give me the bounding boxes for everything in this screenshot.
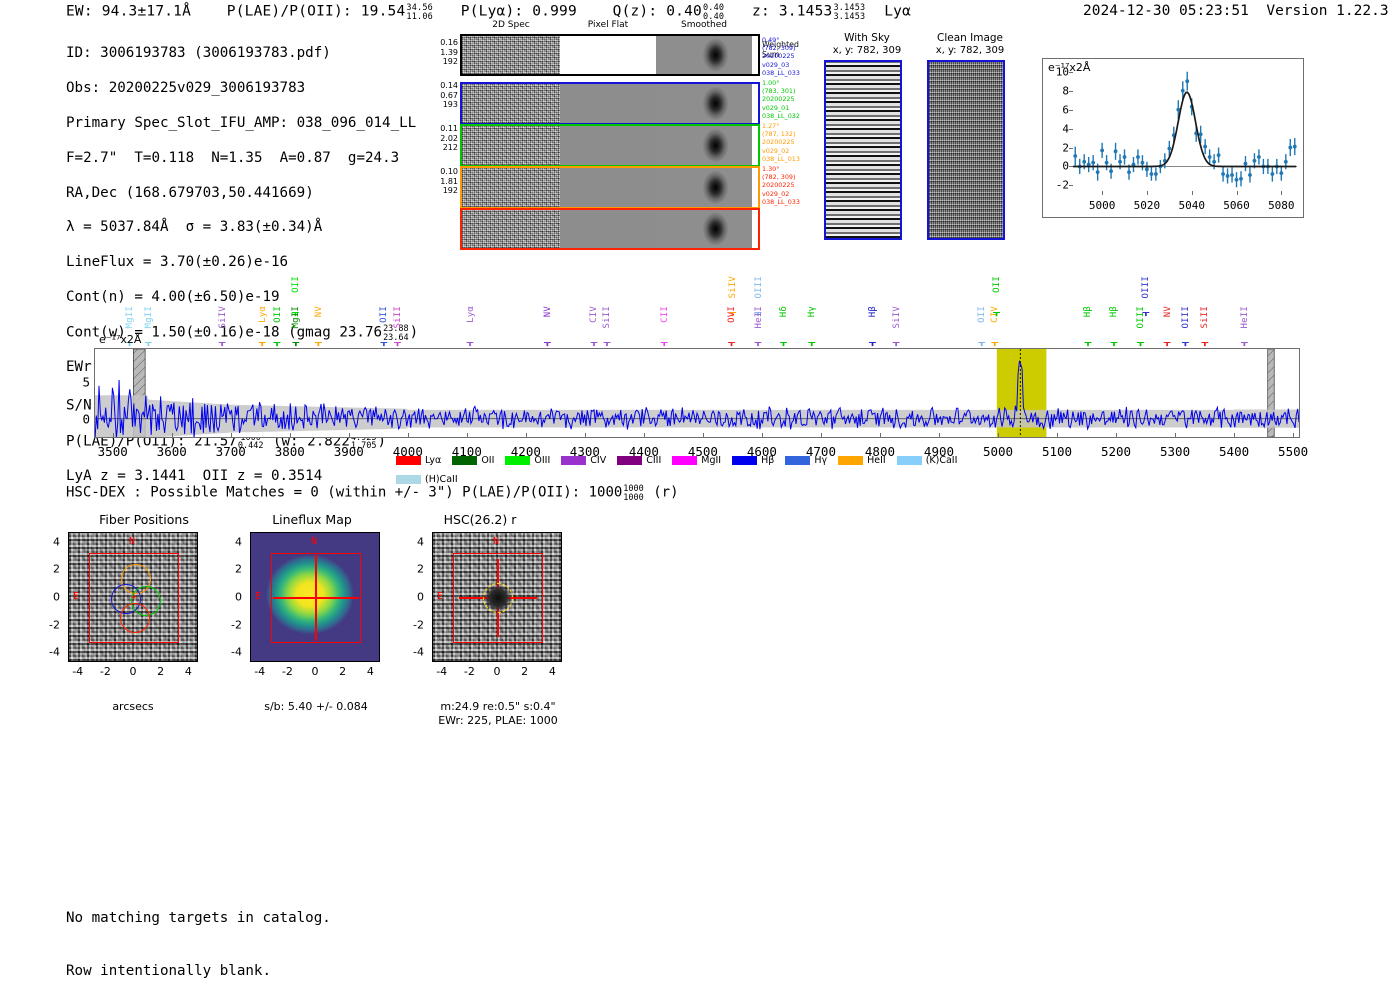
emission-line-label: Hδ [779, 306, 789, 317]
spec2d-fiber-row[interactable] [460, 124, 760, 166]
hsc-dex-header: HSC-DEX : Possible Matches = 0 (within +… [66, 484, 679, 501]
fiber-smoothed [656, 84, 752, 123]
header-plya-label: P(Lyα): [461, 4, 524, 20]
spectrum-xtick: 3900 [334, 444, 364, 459]
hsc-r-xtick: 2 [521, 665, 528, 678]
line-profile-xtick-mark [1281, 191, 1282, 195]
spectrum-xtick: 5200 [1101, 444, 1131, 459]
line-profile-ytick-mark [1069, 185, 1073, 186]
full-spectrum-plot[interactable]: e⁻¹⁷x2Å 35003600370038003900400041004200… [94, 348, 1300, 438]
spectrum-xtick-mark [1175, 433, 1176, 437]
spectrum-xtick-mark [408, 433, 409, 437]
info-line-seeing: F=2.7" T=0.118 N=1.35 A=0.87 g=24.3 [66, 150, 418, 167]
emission-line-label: OIII [754, 276, 764, 298]
emission-line-bracket: ┳ [661, 339, 668, 346]
emission-line-label: SiII [393, 306, 403, 328]
emission-line-label: NV [1163, 306, 1173, 317]
line-profile-ytick: 10 [1056, 65, 1069, 78]
spectrum-xtick: 3700 [216, 444, 246, 459]
spectrum-xtick: 3500 [98, 444, 128, 459]
spectrum-legend-item: CIII [617, 455, 661, 466]
emission-line-label: HeII [1240, 306, 1250, 328]
fiber-aperture-circle [120, 603, 150, 633]
line-profile-ytick-mark [1069, 148, 1073, 149]
fiber-row-left-stats: 0.10 1.81 192 [440, 167, 458, 196]
info-line-obs: Obs: 20200225v029_3006193783 [66, 80, 418, 97]
spec2d-montage: 2D Spec Pixel Flat Smoothed Weighted Sum… [460, 34, 760, 250]
hsc-r-caption-2: EWr: 225, PLAE: 1000 [427, 714, 569, 727]
line-profile-ytick-mark [1069, 110, 1073, 111]
fiber-row-left-stats: 0.11 2.02 212 [440, 124, 458, 153]
spectrum-legend-label: HeII [867, 455, 886, 466]
spectrum-xtick-mark [113, 433, 114, 437]
emission-line-bracket: ┳ [1241, 339, 1248, 346]
hsc-r-caption-1: m:24.9 re:0.5" s:0.4" [427, 700, 569, 713]
emission-line-label: Hγ [807, 306, 817, 317]
fiber-pixelflat [560, 84, 656, 123]
spectrum-xtick-mark [939, 433, 940, 437]
fiber-positions-ytick: 0 [53, 591, 60, 604]
emission-line-label: MgII [144, 306, 154, 328]
spectrum-xtick: 5100 [1042, 444, 1072, 459]
spectrum-legend-swatch [672, 456, 697, 465]
spec2d-fiber-row[interactable] [460, 166, 760, 208]
hsc-r-image[interactable]: N E [432, 532, 562, 662]
spectrum-xtick-mark [585, 433, 586, 437]
compass-east-hsc: E [437, 591, 443, 602]
spectrum-xtick: 5500 [1278, 444, 1308, 459]
spectrum-xtick-mark [349, 433, 350, 437]
spectrum-legend-label: OIII [534, 455, 550, 466]
emission-line-label: SiIV [218, 306, 228, 328]
spectrum-xtick-mark [1057, 433, 1058, 437]
spectrum-legend-label: OII [481, 455, 494, 466]
emission-line-label: CII [660, 306, 670, 323]
lineflux-map-caption: s/b: 5.40 +/- 0.084 [245, 700, 387, 713]
fiber-positions-ytick: 2 [53, 563, 60, 576]
spectrum-xtick: 5300 [1160, 444, 1190, 459]
fiber-row-right-meta: 1.00° (783, 301) 20200225 v029_01 038_LL… [762, 79, 800, 120]
hsc-r-xtick: 0 [494, 665, 501, 678]
line-profile-xtick: 5040 [1178, 199, 1205, 212]
spectrum-xtick-mark [290, 433, 291, 437]
emission-line-bracket: ┳ [394, 339, 401, 346]
line-profile-xtick-mark [1102, 191, 1103, 195]
hsc-r-ytick: 2 [417, 563, 424, 576]
spectrum-legend-swatch [452, 456, 477, 465]
emission-line-label: MgII [125, 306, 135, 328]
spectrum-xtick-mark [880, 433, 881, 437]
lineflux-map-ytick: -2 [231, 618, 242, 631]
compass-north-hsc: N [493, 536, 499, 547]
info-line-wavelength: λ = 5037.84Å σ = 3.83(±0.34)Å [66, 219, 418, 236]
spectrum-legend-label: Hβ [761, 455, 774, 466]
spectrum-xtick-mark [998, 433, 999, 437]
fiber-center-marker: + [131, 595, 137, 601]
lineflux-map-ytick: 0 [235, 591, 242, 604]
emission-line-label: NV [543, 306, 553, 317]
lineflux-map-image[interactable]: N E [250, 532, 380, 662]
spectrum-xtick: 5400 [1219, 444, 1249, 459]
line-profile-ytick-mark [1069, 91, 1073, 92]
hsc-r-xtick: -2 [464, 665, 475, 678]
spectrum-canvas [95, 349, 1299, 437]
lineflux-map-xtick: -2 [282, 665, 293, 678]
lineflux-crosshair-h [273, 597, 359, 599]
hsc-header-text: HSC-DEX : Possible Matches = 0 (within +… [66, 485, 622, 501]
emission-line-bracket: ┳ [755, 339, 762, 346]
hsc-r-ytick: 4 [417, 535, 424, 548]
emission-line-bracket: ┳ [1164, 339, 1171, 346]
cutout-title-with-sky: With Sky [812, 32, 922, 44]
line-profile-plot[interactable]: e⁻¹⁷x2Å -2024681050005020504050605080 [1042, 58, 1304, 218]
lineflux-map-ytick: 2 [235, 563, 242, 576]
emission-line-bracket: ┳ [1142, 309, 1149, 316]
emission-line-label: Lyα [258, 306, 268, 323]
lineflux-map-ytick: 4 [235, 535, 242, 548]
hsc-header-tail: (r) [653, 485, 678, 501]
spectrum-xtick-mark [762, 433, 763, 437]
fiber-positions-xlabel: arcsecs [63, 700, 203, 713]
emission-line-label: HeII [754, 306, 764, 328]
line-profile-xtick: 5020 [1134, 199, 1161, 212]
spectrum-xtick-mark [172, 433, 173, 437]
emission-line-bracket: ┳ [1201, 339, 1208, 346]
line-profile-xtick: 5080 [1268, 199, 1295, 212]
spectrum-xtick-mark [703, 433, 704, 437]
spec2d-fiber-row[interactable] [460, 208, 760, 250]
hsc-r-xtick: 4 [549, 665, 556, 678]
emission-line-label: OII [379, 306, 389, 323]
spectrum-legend-swatch [897, 456, 922, 465]
emission-line-label: SiII [602, 306, 612, 328]
emission-line-label: SiIV [728, 276, 738, 298]
emission-line-bracket: ┳ [1084, 339, 1091, 346]
cutout-image-clean[interactable] [927, 60, 1005, 240]
fiber-row-right-meta: 1.27° (787, 132) 20200225 v029_02 038_LL… [762, 122, 800, 163]
emission-line-bracket: ┳ [274, 339, 281, 346]
emission-line-bracket: ┳ [1110, 339, 1117, 346]
line-profile-ytick: 0 [1062, 160, 1069, 173]
emission-line-bracket: ┳ [991, 339, 998, 346]
emission-line-bracket: ┳ [1182, 339, 1189, 346]
spectrum-legend-label: MgII [701, 455, 721, 466]
emission-line-bracket: ┳ [219, 339, 226, 346]
emission-line-bracket: ┳ [808, 339, 815, 346]
spectrum-xtick-mark [1234, 433, 1235, 437]
fiber-row-right-meta: 0.49° (782, 309) 20200225 v029_03 038_LL… [762, 36, 800, 77]
emission-line-bracket: ┳ [315, 339, 322, 346]
weighted-sum-smoothed [656, 36, 752, 74]
header-z-value: 3.1453 [779, 4, 833, 20]
spectrum-legend-item: Hβ [732, 455, 774, 466]
header-z-range: 3.14533.1453 [833, 4, 865, 21]
compass-north-lineflux: N [311, 536, 317, 547]
fiber-positions-ytick: -2 [49, 618, 60, 631]
header-z-line: Lyα [884, 4, 911, 20]
line-profile-ytick: -2 [1056, 179, 1069, 192]
emission-line-label: OII [992, 276, 1002, 293]
fiber-pixelflat [560, 210, 656, 248]
spectrum-xtick-mark [1116, 433, 1117, 437]
hsc-r-ytick: -4 [413, 646, 424, 659]
spectrum-xtick-mark [467, 433, 468, 437]
emission-line-label: SiIV [892, 306, 902, 328]
footer-line-1: No matching targets in catalog. [66, 910, 331, 928]
line-profile-canvas [1043, 59, 1303, 217]
header-plae-range: 34.5611.06 [406, 4, 433, 21]
lineflux-map-xtick: 2 [339, 665, 346, 678]
info-line-id: ID: 3006193783 (3006193783.pdf) [66, 45, 418, 62]
compass-east-fiber: E [73, 591, 79, 602]
fiber-positions-image[interactable]: N E + [68, 532, 198, 662]
emission-line-label: MgII [291, 306, 301, 328]
spectrum-legend-swatch [785, 456, 810, 465]
footer-line-2: Row intentionally blank. [66, 963, 331, 981]
info-line-slot: Primary Spec_Slot_IFU_AMP: 038_096_014_L… [66, 115, 418, 132]
line-profile-ytick: 6 [1062, 103, 1069, 116]
hsc-r-ytick: 0 [417, 591, 424, 604]
spectrum-legend-swatch [838, 456, 863, 465]
emission-line-label: SiII [1200, 306, 1210, 328]
spectrum-xtick-mark [231, 433, 232, 437]
emission-line-label: OIII [1181, 306, 1191, 328]
header-z-label: z: [752, 4, 770, 20]
fiber-row-right-meta: 1.30° (782, 309) 20200225 v029_02 038_LL… [762, 165, 800, 206]
emission-line-label: Hβ [1109, 306, 1119, 317]
spectrum-ytick: 5 [82, 375, 90, 390]
header-ew-label: EW: [66, 4, 93, 20]
panel-title-lineflux-map: Lineflux Map [232, 512, 392, 527]
spec2d-fiber-row[interactable] [460, 82, 760, 124]
line-profile-xtick: 5000 [1089, 199, 1116, 212]
spectrum-ytick: 0 [82, 411, 90, 426]
cutout-title-clean-image: Clean Image [915, 32, 1025, 44]
fiber-positions-ytick: 4 [53, 535, 60, 548]
weighted-sum-pixelflat [560, 36, 656, 74]
emission-line-bracket: ┳ [467, 339, 474, 346]
lineflux-map-ytick: -4 [231, 646, 242, 659]
spectrum-legend-item: OIII [505, 455, 550, 466]
timestamp: 2024-12-30 05:23:51 [1083, 3, 1249, 19]
fiber-2dspec [462, 126, 560, 165]
spectrum-legend-item: Lyα [396, 455, 441, 466]
cutout-coords-with-sky: x, y: 782, 309 [812, 45, 922, 56]
spectrum-legend-swatch [505, 456, 530, 465]
header-qz-value: 0.40 [666, 4, 702, 20]
emission-line-label: Hβ [1083, 306, 1093, 317]
fiber-2dspec [462, 168, 560, 207]
spectrum-legend-label: (K)CaII [926, 455, 958, 466]
emission-line-label: Hβ [868, 306, 878, 317]
spectrum-legend: LyαOIIOIIICIVCIIIMgIIHβHγHeII(K)CaII(H)C… [396, 450, 1016, 488]
info-line-redshift: LyA z = 3.1441 OII z = 0.3514 [66, 468, 418, 485]
emission-line-label: NV [314, 306, 324, 317]
line-profile-ytick: 4 [1062, 122, 1069, 135]
line-profile-ytick: 2 [1062, 141, 1069, 154]
spectrum-legend-item: HeII [838, 455, 886, 466]
version: Version 1.22.3 [1266, 3, 1388, 19]
emission-line-bracket: ┳ [145, 339, 152, 346]
compass-north-fiber: N [129, 536, 135, 547]
header-summary: EW: 94.3±17.1Å P(LAE)/P(OII): 19.5434.56… [66, 3, 911, 20]
lineflux-map-xtick: 4 [367, 665, 374, 678]
spectrum-legend-swatch [617, 456, 642, 465]
lineflux-map-xtick: -4 [254, 665, 265, 678]
emission-line-bracket: ┳ [993, 309, 1000, 316]
spectrum-legend-label: Lyα [425, 455, 441, 466]
spectrum-xtick-mark [1293, 433, 1294, 437]
spec2d-fiber-rows: 0.16 1.39 1920.49° (782, 309) 20200225 v… [460, 82, 760, 250]
header-timestamp-version: 2024-12-30 05:23:51 Version 1.22.3 [1083, 3, 1389, 19]
emission-line-bracket: ┳ [869, 339, 876, 346]
spectrum-xtick-mark [821, 433, 822, 437]
fiber-smoothed [656, 126, 752, 165]
fiber-positions-xtick: 4 [185, 665, 192, 678]
fiber-positions-xtick: -4 [72, 665, 83, 678]
emission-line-bracket: ┳ [1137, 339, 1144, 346]
emission-line-bracket: ┳ [603, 339, 610, 346]
cutout-image-with-sky[interactable] [824, 60, 902, 240]
spectrum-xtick-mark [644, 433, 645, 437]
fiber-positions-xtick: -2 [100, 665, 111, 678]
spectrum-legend-label: CIII [646, 455, 661, 466]
emission-line-bracket: ┳ [259, 339, 266, 346]
header-ew-value: 94.3±17.1Å [102, 4, 191, 20]
fiber-smoothed [656, 168, 752, 207]
fiber-pixelflat [560, 168, 656, 207]
line-profile-ytick-mark [1069, 129, 1073, 130]
spectrum-legend-item: (K)CaII [897, 455, 958, 466]
emission-line-label: Lyα [466, 306, 476, 323]
spectrum-xtick: 3600 [157, 444, 187, 459]
emission-line-label: OIII [1141, 276, 1151, 298]
fiber-row-left-stats: 0.16 1.39 192 [440, 38, 458, 67]
fiber-smoothed [656, 210, 752, 248]
info-line-radec: RA,Dec (168.679703,50.441669) [66, 185, 418, 202]
emission-line-label: OVI [727, 306, 737, 323]
fiber-pixelflat [560, 126, 656, 165]
header-plae-value: 19.54 [361, 4, 406, 20]
emission-line-bracket: ┳ [893, 339, 900, 346]
line-profile-ytick-mark [1069, 72, 1073, 73]
spectrum-units: e⁻¹⁷x2Å [99, 333, 141, 346]
line-profile-ytick-mark [1069, 166, 1073, 167]
line-profile-xtick: 5060 [1223, 199, 1250, 212]
hsc-plae-range: 10001000 [623, 485, 643, 502]
fiber-row-left-stats: 0.14 0.67 193 [440, 81, 458, 110]
emission-line-label: OII [977, 306, 987, 323]
fiber-positions-ytick: -4 [49, 646, 60, 659]
spectrum-xtick-mark [526, 433, 527, 437]
fiber-positions-xtick: 0 [130, 665, 137, 678]
hsc-r-ytick: -2 [413, 618, 424, 631]
spectrum-legend-item: Hγ [785, 455, 827, 466]
emission-line-label: OII [273, 306, 283, 323]
spectrum-legend-swatch [561, 456, 586, 465]
panel-title-hsc-r: HSC(26.2) r [400, 512, 560, 527]
header-qz-label: Q(z): [613, 4, 658, 20]
emission-line-label: OII [291, 276, 301, 293]
cutout-coords-clean-image: x, y: 782, 309 [915, 45, 1025, 56]
header-plya-value: 0.999 [532, 4, 577, 20]
emission-line-bracket: ┳ [380, 339, 387, 346]
spectrum-legend-swatch [396, 456, 421, 465]
emission-line-bracket: ┳ [544, 339, 551, 346]
info-line-contn: Cont(n) = 4.00(±6.50)e-19 [66, 289, 418, 306]
line-profile-xtick-mark [1147, 191, 1148, 195]
spectrum-legend-label: CIV [590, 455, 606, 466]
col-title-smoothed: Smoothed [656, 20, 752, 30]
line-profile-xtick-mark [1192, 191, 1193, 195]
spectrum-legend-swatch [732, 456, 757, 465]
line-profile-xtick-mark [1237, 191, 1238, 195]
emission-line-bracket: ┳ [780, 339, 787, 346]
emission-line-bracket: ┳ [978, 339, 985, 346]
lineflux-map-xtick: 0 [312, 665, 319, 678]
emission-line-bracket: ┳ [292, 339, 299, 346]
compass-east-lineflux: E [255, 591, 261, 602]
emission-line-bracket: ┳ [590, 339, 597, 346]
footer-block: No matching targets in catalog. Row inte… [66, 875, 331, 998]
hsc-r-xtick: -4 [436, 665, 447, 678]
spectrum-legend-item: MgII [672, 455, 721, 466]
hsc-aperture-circle [483, 583, 513, 613]
spec2d-weighted-sum-row[interactable] [460, 34, 760, 76]
spectrum-legend-swatch [396, 475, 421, 484]
fiber-2dspec [462, 84, 560, 123]
spectrum-legend-label: Hγ [814, 455, 827, 466]
header-plae-label: P(LAE)/P(OII): [227, 4, 352, 20]
spectrum-xtick: 3800 [275, 444, 305, 459]
info-line-lineflux: LineFlux = 3.70(±0.26)e-16 [66, 254, 418, 271]
fiber-2dspec [462, 210, 560, 248]
emission-line-bracket: ┳ [728, 339, 735, 346]
fiber-positions-xtick: 2 [157, 665, 164, 678]
line-profile-ytick: 8 [1062, 84, 1069, 97]
col-title-pixelflat: Pixel Flat [560, 20, 656, 30]
header-qz-range: 0.400.40 [703, 4, 724, 21]
spectrum-legend-item: OII [452, 455, 494, 466]
emission-line-label: CIV [589, 306, 599, 323]
col-title-2dspec: 2D Spec [462, 20, 560, 30]
spectrum-legend-item: CIV [561, 455, 606, 466]
weighted-sum-2dspec [462, 36, 560, 74]
panel-title-fiber-positions: Fiber Positions [64, 512, 224, 527]
